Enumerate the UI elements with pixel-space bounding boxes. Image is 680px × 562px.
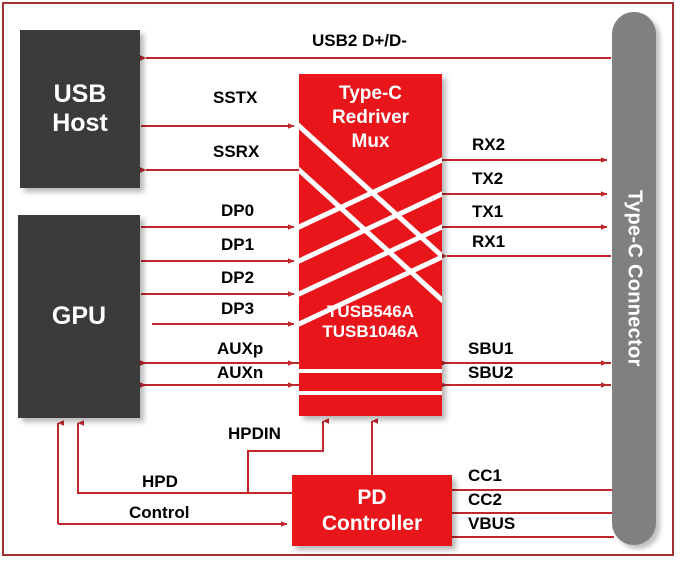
mux-title-line2: Redriver	[299, 106, 442, 130]
signal-label-dp0: DP0	[221, 201, 254, 221]
signal-label-dp1: DP1	[221, 235, 254, 255]
block-gpu[interactable]: GPU	[18, 215, 140, 418]
signal-label-rx1: RX1	[472, 232, 505, 252]
signal-label-auxp: AUXp	[217, 339, 263, 359]
signal-label-hpdin: HPDIN	[228, 424, 281, 444]
block-usb-host[interactable]: USB Host	[20, 30, 140, 188]
mux-title: Type-C Redriver Mux	[299, 82, 442, 153]
signal-label-cc1: CC1	[468, 466, 502, 486]
block-diagram: USB Host GPU	[0, 0, 680, 562]
signal-label-cc2: CC2	[468, 490, 502, 510]
mux-part-numbers: TUSB546A TUSB1046A	[299, 302, 442, 343]
mux-title-line3: Mux	[299, 130, 442, 154]
signal-label-auxn: AUXn	[217, 363, 263, 383]
mux-title-line1: Type-C	[299, 82, 442, 106]
signal-label-hpd: HPD	[142, 472, 178, 492]
block-type-c-redriver-mux[interactable]: Type-C Redriver Mux TUSB546A TUSB1046A	[299, 74, 442, 416]
signal-label-dp3: DP3	[221, 299, 254, 319]
signal-label-tx2: TX2	[472, 169, 503, 189]
mux-part-line1: TUSB546A	[299, 302, 442, 322]
signal-label-sstx: SSTX	[213, 88, 257, 108]
signal-label-sbu2: SBU2	[468, 363, 513, 383]
signal-label-rx2: RX2	[472, 135, 505, 155]
signal-label-vbus: VBUS	[468, 514, 515, 534]
pd-controller-label-line1: PD	[322, 485, 422, 510]
signal-label-sbu1: SBU1	[468, 339, 513, 359]
pd-controller-label-line2: Controller	[322, 511, 422, 536]
signal-label-dp2: DP2	[221, 268, 254, 288]
usb-host-label-line1: USB	[52, 80, 108, 109]
signal-label-tx1: TX1	[472, 202, 503, 222]
usb-host-label-line2: Host	[52, 109, 108, 138]
connector-label-wrap: Type-C Connector	[612, 12, 656, 545]
signal-label-ssrx: SSRX	[213, 142, 259, 162]
connector-label: Type-C Connector	[623, 190, 646, 367]
mux-part-line2: TUSB1046A	[299, 322, 442, 342]
gpu-label: GPU	[52, 302, 106, 331]
block-pd-controller[interactable]: PD Controller	[292, 475, 452, 546]
signal-label-usb2: USB2 D+/D-	[312, 31, 407, 51]
signal-label-control: Control	[129, 503, 189, 523]
